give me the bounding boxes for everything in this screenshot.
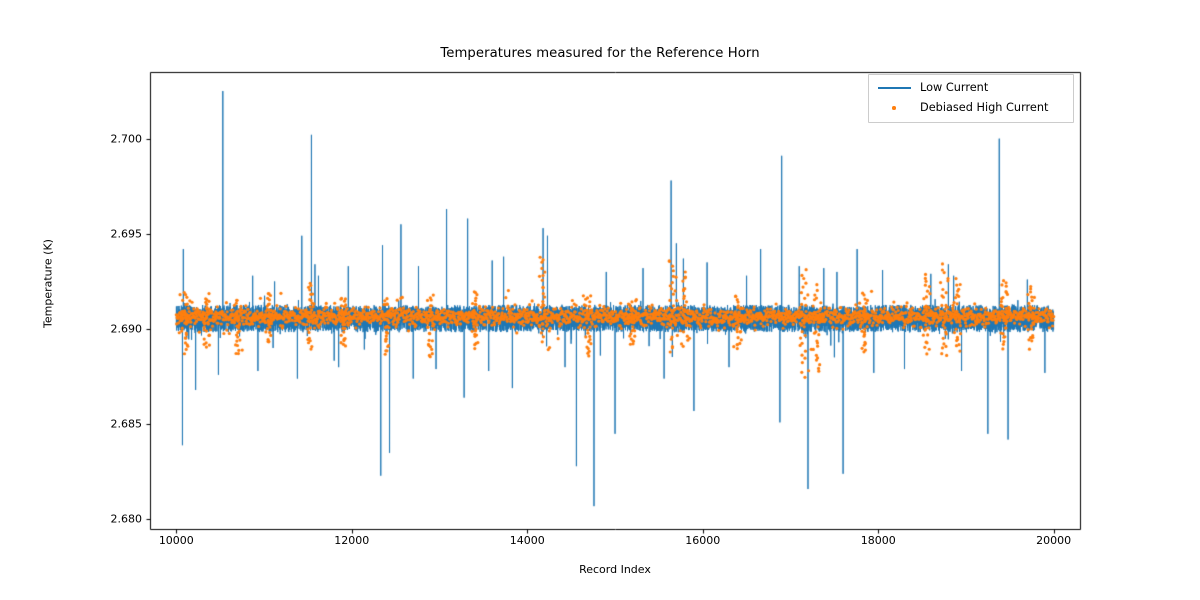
legend-marker-swatch-icon [892, 106, 896, 110]
legend-item-debiased-high-current[interactable]: Debiased High Current [869, 98, 1075, 118]
y-tick-label: 2.695 [111, 227, 143, 240]
x-tick-label: 14000 [510, 534, 545, 547]
y-tick-label: 2.690 [111, 323, 143, 336]
legend-label-debiased-high-current: Debiased High Current [920, 101, 1048, 114]
x-tick-label: 12000 [334, 534, 369, 547]
x-tick-label: 10000 [159, 534, 194, 547]
y-tick-label: 2.680 [111, 513, 143, 526]
x-tick-label: 18000 [861, 534, 896, 547]
x-tick-label: 20000 [1036, 534, 1071, 547]
y-tick-label: 2.685 [111, 418, 143, 431]
chart-legend[interactable]: Low Current Debiased High Current [868, 74, 1074, 123]
figure-canvas: Temperatures measured for the Reference … [0, 0, 1200, 600]
y-tick-label: 2.700 [111, 132, 143, 145]
legend-label-low-current: Low Current [920, 81, 988, 94]
legend-item-low-current[interactable]: Low Current [869, 78, 1075, 98]
legend-line-swatch-icon [878, 87, 911, 89]
x-tick-label: 16000 [685, 534, 720, 547]
